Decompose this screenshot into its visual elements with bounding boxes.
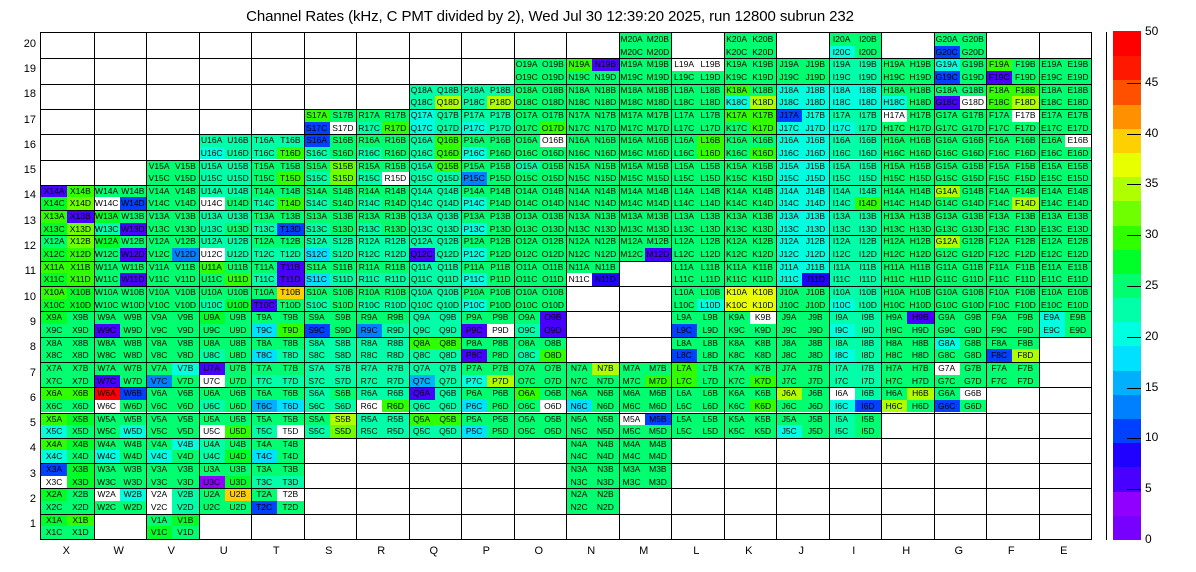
- heatmap-subcell: X10B: [67, 286, 93, 299]
- heatmap-subcell: X14D: [67, 197, 93, 210]
- heatmap-subcell: F15C: [986, 172, 1012, 185]
- heatmap-subcell: E12A: [1039, 235, 1065, 248]
- heatmap-subcell: I6A: [829, 387, 855, 400]
- heatmap-subcell: T8A: [251, 337, 277, 350]
- heatmap-subcell: H8C: [881, 349, 907, 362]
- heatmap-subcell: V1C: [146, 526, 172, 539]
- heatmap-subcell: S9C: [304, 324, 330, 337]
- heatmap-subcell: I18B: [855, 84, 881, 97]
- heatmap-subcell: U4D: [225, 450, 251, 463]
- heatmap-subcell: O9B: [540, 311, 566, 324]
- heatmap-subcell: X9C: [41, 324, 67, 337]
- heatmap-subcell: H13D: [907, 223, 933, 236]
- heatmap-subcell: P5A: [461, 413, 487, 426]
- heatmap-subcell: P5C: [461, 425, 487, 438]
- heatmap-subcell: F8D: [1012, 349, 1038, 362]
- heatmap-subcell: U12A: [199, 235, 225, 248]
- heatmap-subcell: T8C: [251, 349, 277, 362]
- heatmap-subcell: M17A: [619, 109, 645, 122]
- heatmap-subcell: E19B: [1065, 58, 1091, 71]
- heatmap-subcell: W3A: [94, 463, 120, 476]
- heatmap-subcell: V7C: [146, 375, 172, 388]
- heatmap-subcell: F18C: [986, 96, 1012, 109]
- heatmap-subcell: N12D: [592, 248, 618, 261]
- heatmap-subcell: M3A: [619, 463, 645, 476]
- heatmap-subcell: K18D: [750, 96, 776, 109]
- heatmap-subcell: T14A: [251, 185, 277, 198]
- heatmap-subcell: X6B: [67, 387, 93, 400]
- heatmap-subcell: U7D: [225, 375, 251, 388]
- heatmap-subcell: L10C: [671, 299, 697, 312]
- heatmap-subcell: E14A: [1039, 185, 1065, 198]
- heatmap-subcell: K20D: [750, 46, 776, 59]
- heatmap-subcell: W7B: [120, 362, 146, 375]
- heatmap-subcell: P8D: [487, 349, 513, 362]
- heatmap-subcell: P15D: [487, 172, 513, 185]
- heatmap-subcell: F19C: [986, 71, 1012, 84]
- heatmap-subcell: U9D: [225, 324, 251, 337]
- heatmap-subcell: O14B: [540, 185, 566, 198]
- heatmap-subcell: F11C: [986, 273, 1012, 286]
- heatmap-subcell: G6C: [934, 400, 960, 413]
- heatmap-subcell: M4B: [645, 438, 671, 451]
- heatmap-subcell: N4D: [592, 450, 618, 463]
- heatmap-subcell: K16B: [750, 134, 776, 147]
- heatmap-subcell: X5B: [67, 413, 93, 426]
- heatmap-subcell: S11B: [330, 261, 356, 274]
- heatmap-subcell: P14A: [461, 185, 487, 198]
- heatmap-subcell: P15A: [461, 160, 487, 173]
- heatmap-subcell: L15D: [697, 172, 723, 185]
- heatmap-subcell: F16C: [986, 147, 1012, 160]
- heatmap-subcell: M3B: [645, 463, 671, 476]
- heatmap-subcell: I5A: [829, 413, 855, 426]
- heatmap-subcell: F17B: [1012, 109, 1038, 122]
- heatmap-subcell: K17B: [750, 109, 776, 122]
- y-axis-tick-label: 4: [8, 442, 36, 454]
- heatmap-subcell: J16C: [776, 147, 802, 160]
- heatmap-subcell: O13B: [540, 210, 566, 223]
- heatmap-subcell: N3D: [592, 476, 618, 489]
- heatmap-subcell: W10A: [94, 286, 120, 299]
- heatmap-subcell: I14A: [829, 185, 855, 198]
- heatmap-subcell: M13A: [619, 210, 645, 223]
- heatmap-subcell: O7B: [540, 362, 566, 375]
- heatmap-subcell: X7A: [41, 362, 67, 375]
- heatmap-subcell: J6C: [776, 400, 802, 413]
- heatmap-subcell: O18C: [514, 96, 540, 109]
- heatmap-subcell: E10D: [1065, 299, 1091, 312]
- heatmap-subcell: H17D: [907, 122, 933, 135]
- heatmap-subcell: I13C: [829, 223, 855, 236]
- heatmap-subcell: X3D: [67, 476, 93, 489]
- heatmap-subcell: I15B: [855, 160, 881, 173]
- heatmap-subcell: L15A: [671, 160, 697, 173]
- x-axis-tick-label: H: [880, 545, 933, 557]
- heatmap-subcell: V2D: [172, 501, 198, 514]
- heatmap-subcell: N19D: [592, 71, 618, 84]
- heatmap-subcell: H14A: [881, 185, 907, 198]
- heatmap-subcell: S8A: [304, 337, 330, 350]
- heatmap-subcell: K11B: [750, 261, 776, 274]
- heatmap-subcell: E11A: [1039, 261, 1065, 274]
- heatmap-subcell: K13A: [724, 210, 750, 223]
- heatmap-subcell: T2A: [251, 488, 277, 501]
- heatmap-subcell: Q17C: [409, 122, 435, 135]
- heatmap-subcell: R17C: [356, 122, 382, 135]
- heatmap-subcell: P16B: [487, 134, 513, 147]
- heatmap-subcell: M15D: [645, 172, 671, 185]
- heatmap-subcell: H12D: [907, 248, 933, 261]
- heatmap-subcell: G14B: [960, 185, 986, 198]
- heatmap-subcell: H7B: [907, 362, 933, 375]
- heatmap-subcell: N7C: [566, 375, 592, 388]
- heatmap-subcell: J14A: [776, 185, 802, 198]
- heatmap-subcell: R14C: [356, 197, 382, 210]
- colorbar-tick-label: 40: [1145, 126, 1158, 140]
- heatmap-subcell: P11D: [487, 273, 513, 286]
- heatmap-subcell: M19B: [645, 58, 671, 71]
- heatmap-subcell: Q16A: [409, 134, 435, 147]
- heatmap-subcell: J19D: [802, 71, 828, 84]
- heatmap-subcell: H11C: [881, 273, 907, 286]
- heatmap-subcell: R6B: [382, 387, 408, 400]
- heatmap-subcell: H12A: [881, 235, 907, 248]
- heatmap-subcell: N5C: [566, 425, 592, 438]
- heatmap-subcell: R5D: [382, 425, 408, 438]
- heatmap-subcell: J7D: [802, 375, 828, 388]
- heatmap-subcell: O10B: [540, 286, 566, 299]
- heatmap-subcell: P13C: [461, 223, 487, 236]
- heatmap-subcell: F10D: [1012, 299, 1038, 312]
- heatmap-subcell: Q18C: [409, 96, 435, 109]
- heatmap-subcell: R9D: [382, 324, 408, 337]
- heatmap-subcell: X11B: [67, 261, 93, 274]
- heatmap-subcell: Q7A: [409, 362, 435, 375]
- heatmap-subcell: I17A: [829, 109, 855, 122]
- heatmap-subcell: L5B: [697, 413, 723, 426]
- heatmap-subcell: R8A: [356, 337, 382, 350]
- heatmap-subcell: V5B: [172, 413, 198, 426]
- heatmap-subcell: O19A: [514, 58, 540, 71]
- heatmap-subcell: T9C: [251, 324, 277, 337]
- heatmap-subcell: U13B: [225, 210, 251, 223]
- heatmap-subcell: V4A: [146, 438, 172, 451]
- heatmap-subcell: F9D: [1012, 324, 1038, 337]
- colorbar-tick: [1127, 83, 1141, 84]
- heatmap-subcell: J6D: [802, 400, 828, 413]
- heatmap-subcell: N18B: [592, 84, 618, 97]
- heatmap-subcell: W2C: [94, 501, 120, 514]
- heatmap-subcell: F9B: [1012, 311, 1038, 324]
- heatmap-subcell: I15A: [829, 160, 855, 173]
- heatmap-subcell: W5D: [120, 425, 146, 438]
- heatmap-subcell: W14B: [120, 185, 146, 198]
- heatmap-subcell: Q13B: [435, 210, 461, 223]
- heatmap-subcell: I13D: [855, 223, 881, 236]
- x-axis-tick-label: X: [40, 545, 93, 557]
- heatmap-subcell: M7D: [645, 375, 671, 388]
- heatmap-subcell: L8B: [697, 337, 723, 350]
- heatmap-subcell: N5B: [592, 413, 618, 426]
- heatmap-subcell: W8B: [120, 337, 146, 350]
- heatmap-subcell: I13A: [829, 210, 855, 223]
- heatmap-subcell: H10B: [907, 286, 933, 299]
- heatmap-subcell: R17D: [382, 122, 408, 135]
- y-axis-tick-label: 16: [8, 139, 36, 151]
- heatmap-subcell: F14B: [1012, 185, 1038, 198]
- heatmap-subcell: I14B: [855, 185, 881, 198]
- heatmap-subcell: J18C: [776, 96, 802, 109]
- heatmap-subcell: V3A: [146, 463, 172, 476]
- heatmap-subcell: M16B: [645, 134, 671, 147]
- heatmap-subcell: T10A: [251, 286, 277, 299]
- heatmap-subcell: X13D: [67, 223, 93, 236]
- heatmap-subcell: S11D: [330, 273, 356, 286]
- heatmap-subcell: R5C: [356, 425, 382, 438]
- heatmap-subcell: G20B: [960, 33, 986, 46]
- heatmap-subcell: V4C: [146, 450, 172, 463]
- heatmap-subcell: N17B: [592, 109, 618, 122]
- heatmap-subcell: M15C: [619, 172, 645, 185]
- x-axis-tick-label: S: [303, 545, 356, 557]
- heatmap-subcell: I7D: [855, 375, 881, 388]
- colorbar-tick-label: 50: [1145, 24, 1158, 38]
- heatmap-subcell: N6D: [592, 400, 618, 413]
- heatmap-subcell: O7C: [514, 375, 540, 388]
- heatmap-subcell: O5C: [514, 425, 540, 438]
- heatmap-subcell: Q15C: [409, 172, 435, 185]
- heatmap-subcell: L6D: [697, 400, 723, 413]
- heatmap-subcell: R15D: [382, 172, 408, 185]
- heatmap-subcell: K13B: [750, 210, 776, 223]
- heatmap-subcell: I18A: [829, 84, 855, 97]
- heatmap-subcell: J5D: [802, 425, 828, 438]
- x-axis-tick-label: J: [775, 545, 828, 557]
- heatmap-subcell: V3C: [146, 476, 172, 489]
- heatmap-subcell: J14B: [802, 185, 828, 198]
- heatmap-subcell: V5A: [146, 413, 172, 426]
- heatmap-subcell: Q14C: [409, 197, 435, 210]
- heatmap-subcell: J17D: [802, 122, 828, 135]
- heatmap-subcell: F7C: [986, 375, 1012, 388]
- heatmap-subcell: T15B: [277, 160, 303, 173]
- heatmap-subcell: E9C: [1039, 324, 1065, 337]
- heatmap-subcell: L14D: [697, 197, 723, 210]
- heatmap-subcell: J19C: [776, 71, 802, 84]
- heatmap-cells: X14AX14BX14CX14DX13AX13BX13CX13DX12AX12B…: [41, 33, 1091, 539]
- heatmap-subcell: M6C: [619, 400, 645, 413]
- heatmap-subcell: K11D: [750, 273, 776, 286]
- heatmap-subcell: N15B: [592, 160, 618, 173]
- heatmap-subcell: U3D: [225, 476, 251, 489]
- heatmap-subcell: T7D: [277, 375, 303, 388]
- heatmap-subcell: J7B: [802, 362, 828, 375]
- heatmap-subcell: F19A: [986, 58, 1012, 71]
- heatmap-subcell: N3A: [566, 463, 592, 476]
- heatmap-subcell: W13D: [120, 223, 146, 236]
- heatmap-subcell: N11D: [592, 273, 618, 286]
- heatmap-subcell: J15A: [776, 160, 802, 173]
- heatmap-subcell: M13C: [619, 223, 645, 236]
- heatmap-subcell: K19D: [750, 71, 776, 84]
- heatmap-subcell: F12B: [1012, 235, 1038, 248]
- heatmap-subcell: O14C: [514, 197, 540, 210]
- heatmap-subcell: G13D: [960, 223, 986, 236]
- heatmap-subcell: M7C: [619, 375, 645, 388]
- heatmap-subcell: T16B: [277, 134, 303, 147]
- heatmap-subcell: R13B: [382, 210, 408, 223]
- heatmap-subcell: R9B: [382, 311, 408, 324]
- heatmap-subcell: S17D: [330, 122, 356, 135]
- heatmap-subcell: X10A: [41, 286, 67, 299]
- heatmap-subcell: R7C: [356, 375, 382, 388]
- heatmap-subcell: L10A: [671, 286, 697, 299]
- colorbar-ticks: 05101520253035404550: [1113, 32, 1183, 540]
- heatmap-subcell: R5B: [382, 413, 408, 426]
- heatmap-subcell: T13B: [277, 210, 303, 223]
- heatmap-subcell: Q8D: [435, 349, 461, 362]
- heatmap-grid[interactable]: X14AX14BX14CX14DX13AX13BX13CX13DX12AX12B…: [40, 32, 1092, 540]
- heatmap-subcell: U11B: [225, 261, 251, 274]
- heatmap-subcell: Q8C: [409, 349, 435, 362]
- heatmap-subcell: E17D: [1065, 122, 1091, 135]
- heatmap-subcell: R14D: [382, 197, 408, 210]
- x-axis-tick-label: W: [93, 545, 146, 557]
- heatmap-subcell: K8C: [724, 349, 750, 362]
- heatmap-subcell: G12C: [934, 248, 960, 261]
- heatmap-subcell: K7A: [724, 362, 750, 375]
- heatmap-subcell: U6A: [199, 387, 225, 400]
- heatmap-subcell: K16A: [724, 134, 750, 147]
- heatmap-subcell: K13C: [724, 223, 750, 236]
- heatmap-subcell: V10B: [172, 286, 198, 299]
- heatmap-subcell: H16D: [907, 147, 933, 160]
- heatmap-subcell: V11A: [146, 261, 172, 274]
- heatmap-subcell: O17C: [514, 122, 540, 135]
- heatmap-subcell: T13C: [251, 223, 277, 236]
- heatmap-subcell: W12B: [120, 235, 146, 248]
- heatmap-subcell: F16B: [1012, 134, 1038, 147]
- heatmap-subcell: U10C: [199, 299, 225, 312]
- heatmap-subcell: P10C: [461, 299, 487, 312]
- heatmap-subcell: F9C: [986, 324, 1012, 337]
- heatmap-subcell: L18C: [671, 96, 697, 109]
- heatmap-subcell: Q18B: [435, 84, 461, 97]
- heatmap-subcell: G17B: [960, 109, 986, 122]
- heatmap-subcell: M20C: [619, 46, 645, 59]
- heatmap-subcell: S6A: [304, 387, 330, 400]
- heatmap-subcell: H8A: [881, 337, 907, 350]
- heatmap-subcell: I11C: [829, 273, 855, 286]
- heatmap-subcell: F17D: [1012, 122, 1038, 135]
- heatmap-subcell: S12B: [330, 235, 356, 248]
- heatmap-subcell: I16A: [829, 134, 855, 147]
- heatmap-subcell: Q14D: [435, 197, 461, 210]
- heatmap-subcell: I19B: [855, 58, 881, 71]
- heatmap-subcell: Q13C: [409, 223, 435, 236]
- heatmap-subcell: J8C: [776, 349, 802, 362]
- heatmap-subcell: I10D: [855, 299, 881, 312]
- heatmap-subcell: S15D: [330, 172, 356, 185]
- heatmap-subcell: K20C: [724, 46, 750, 59]
- heatmap-subcell: Q11A: [409, 261, 435, 274]
- heatmap-subcell: Q16C: [409, 147, 435, 160]
- heatmap-subcell: G19A: [934, 58, 960, 71]
- heatmap-subcell: N7B: [592, 362, 618, 375]
- heatmap-subcell: W12C: [94, 248, 120, 261]
- heatmap-subcell: V14B: [172, 185, 198, 198]
- heatmap-subcell: K13D: [750, 223, 776, 236]
- heatmap-subcell: H7A: [881, 362, 907, 375]
- heatmap-subcell: V7B: [172, 362, 198, 375]
- heatmap-subcell: E16A: [1039, 134, 1065, 147]
- heatmap-subcell: P7C: [461, 375, 487, 388]
- y-axis-tick-label: 11: [8, 265, 36, 277]
- heatmap-subcell: Q9B: [435, 311, 461, 324]
- heatmap-subcell: T2B: [277, 488, 303, 501]
- heatmap-subcell: G18D: [960, 96, 986, 109]
- heatmap-subcell: X1B: [67, 514, 93, 527]
- heatmap-subcell: O15A: [514, 160, 540, 173]
- heatmap-subcell: J16B: [802, 134, 828, 147]
- heatmap-subcell: W8D: [120, 349, 146, 362]
- heatmap-subcell: S10A: [304, 286, 330, 299]
- colorbar-tick: [1127, 489, 1141, 490]
- heatmap-subcell: O5D: [540, 425, 566, 438]
- heatmap-subcell: T11B: [277, 261, 303, 274]
- colorbar-axis-line: [1106, 32, 1107, 540]
- heatmap-subcell: N16D: [592, 147, 618, 160]
- heatmap-subcell: G20C: [934, 46, 960, 59]
- heatmap-subcell: T10D: [277, 299, 303, 312]
- heatmap-subcell: X11C: [41, 273, 67, 286]
- heatmap-subcell: U6D: [225, 400, 251, 413]
- heatmap-subcell: G14D: [960, 197, 986, 210]
- x-axis-labels: XWVUTSRQPONMLKJIHGFE: [40, 545, 1092, 563]
- heatmap-subcell: F10C: [986, 299, 1012, 312]
- heatmap-subcell: U15A: [199, 160, 225, 173]
- heatmap-subcell: H9C: [881, 324, 907, 337]
- heatmap-subcell: X14C: [41, 197, 67, 210]
- heatmap-subcell: U4C: [199, 450, 225, 463]
- heatmap-subcell: S10C: [304, 299, 330, 312]
- heatmap-subcell: L12D: [697, 248, 723, 261]
- heatmap-subcell: L19B: [697, 58, 723, 71]
- heatmap-subcell: U12D: [225, 248, 251, 261]
- heatmap-subcell: V12C: [146, 248, 172, 261]
- heatmap-subcell: Q8A: [409, 337, 435, 350]
- heatmap-subcell: Q8B: [435, 337, 461, 350]
- heatmap-subcell: E9A: [1039, 311, 1065, 324]
- heatmap-subcell: I16D: [855, 147, 881, 160]
- heatmap-subcell: V2A: [146, 488, 172, 501]
- heatmap-subcell: P8C: [461, 349, 487, 362]
- heatmap-subcell: U2D: [225, 501, 251, 514]
- heatmap-subcell: T4C: [251, 450, 277, 463]
- heatmap-subcell: S9B: [330, 311, 356, 324]
- heatmap-subcell: K15D: [750, 172, 776, 185]
- heatmap-subcell: X12C: [41, 248, 67, 261]
- heatmap-subcell: I18D: [855, 96, 881, 109]
- heatmap-subcell: U3A: [199, 463, 225, 476]
- heatmap-subcell: O19B: [540, 58, 566, 71]
- heatmap-subcell: K11A: [724, 261, 750, 274]
- heatmap-subcell: H18C: [881, 96, 907, 109]
- heatmap-subcell: I10C: [829, 299, 855, 312]
- heatmap-subcell: I10A: [829, 286, 855, 299]
- heatmap-subcell: T2C: [251, 501, 277, 514]
